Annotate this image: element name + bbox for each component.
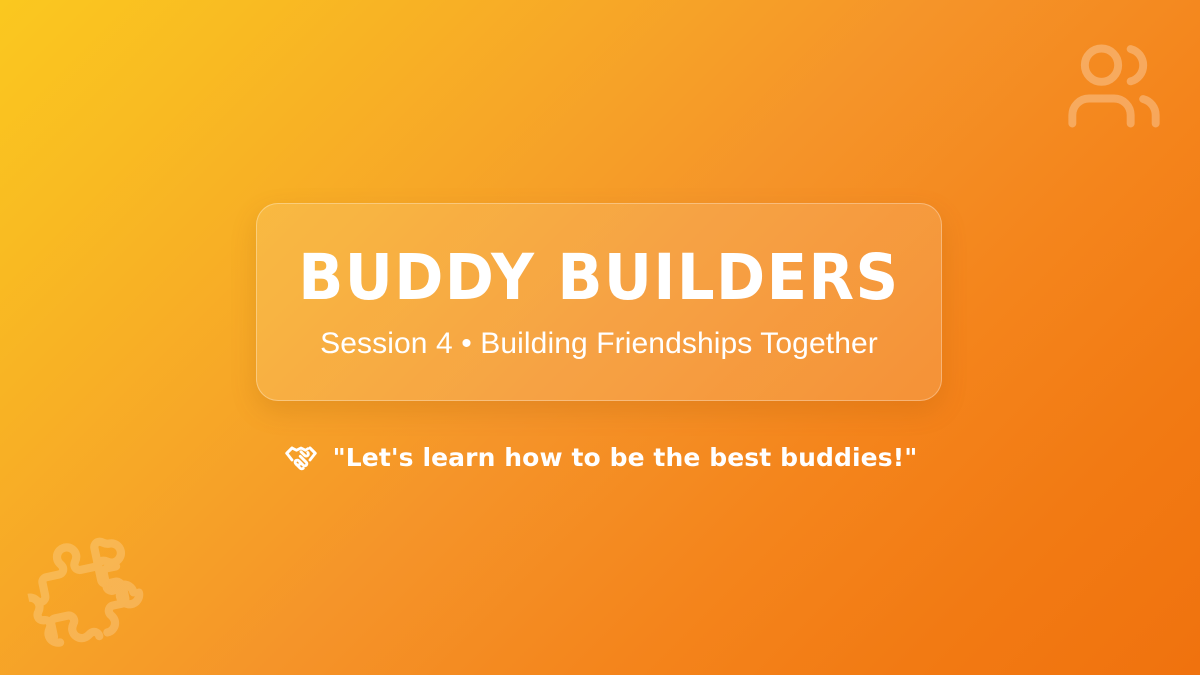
page-title: BUDDY BUILDERS	[298, 246, 899, 309]
tagline-text: "Let's learn how to be the best buddies!…	[333, 445, 918, 470]
handshake-icon	[283, 439, 319, 475]
session-subtitle: Session 4 • Building Friendships Togethe…	[320, 309, 878, 359]
title-card: BUDDY BUILDERS Session 4 • Building Frie…	[256, 203, 942, 401]
people-icon	[1056, 36, 1172, 136]
puzzle-piece-icon	[17, 521, 155, 659]
tagline-row: "Let's learn how to be the best buddies!…	[0, 436, 1200, 478]
title-slide: BUDDY BUILDERS Session 4 • Building Frie…	[0, 0, 1200, 675]
